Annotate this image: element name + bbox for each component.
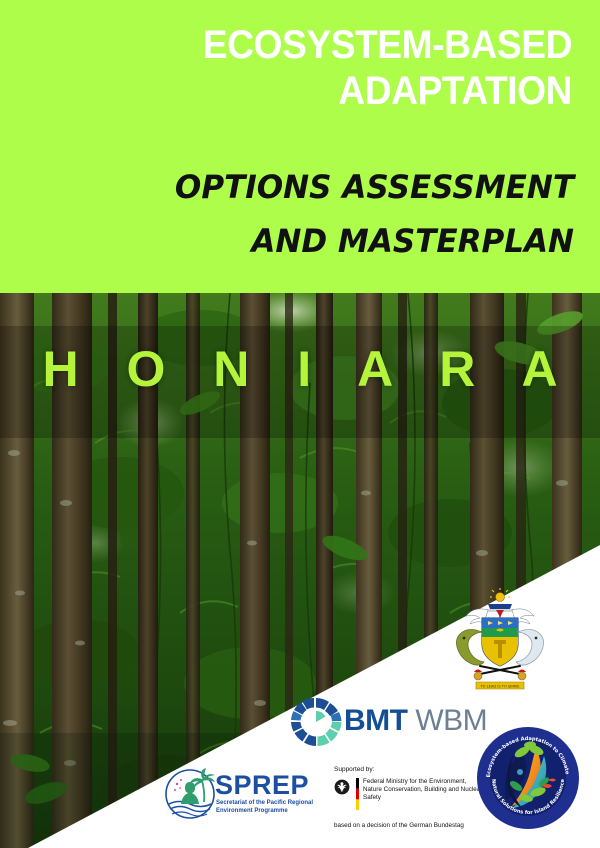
german-federal-eagle-icon	[334, 779, 350, 795]
document-cover: ECOSYSTEM-BASED ADAPTATION OPTIONS ASSES…	[0, 0, 600, 848]
bundestag-note: based on a decision of the German Bundes…	[334, 822, 464, 829]
german-ministry-name: Federal Ministry for the Environment, Na…	[363, 778, 483, 803]
sprep-acronym: SPREP	[215, 770, 309, 801]
logo-strip: TO LEAD IS TO SERVE	[0, 0, 600, 848]
coat-of-arms-motto: TO LEAD IS TO SERVE	[479, 685, 520, 689]
bmt-wordmark: BMT WBM	[344, 704, 487, 738]
pebacc-logo: Pacific Ecosystem-based Adaptation to Cl…	[476, 726, 580, 830]
bmt-bold-text: BMT	[344, 704, 407, 737]
sprep-tagline: Secretariat of the Pacific Regional Envi…	[216, 799, 326, 815]
solomon-islands-coat-of-arms: TO LEAD IS TO SERVE	[452, 588, 548, 692]
german-flag-stripe-icon	[356, 778, 359, 810]
supported-by-label: Supported by:	[334, 766, 374, 773]
